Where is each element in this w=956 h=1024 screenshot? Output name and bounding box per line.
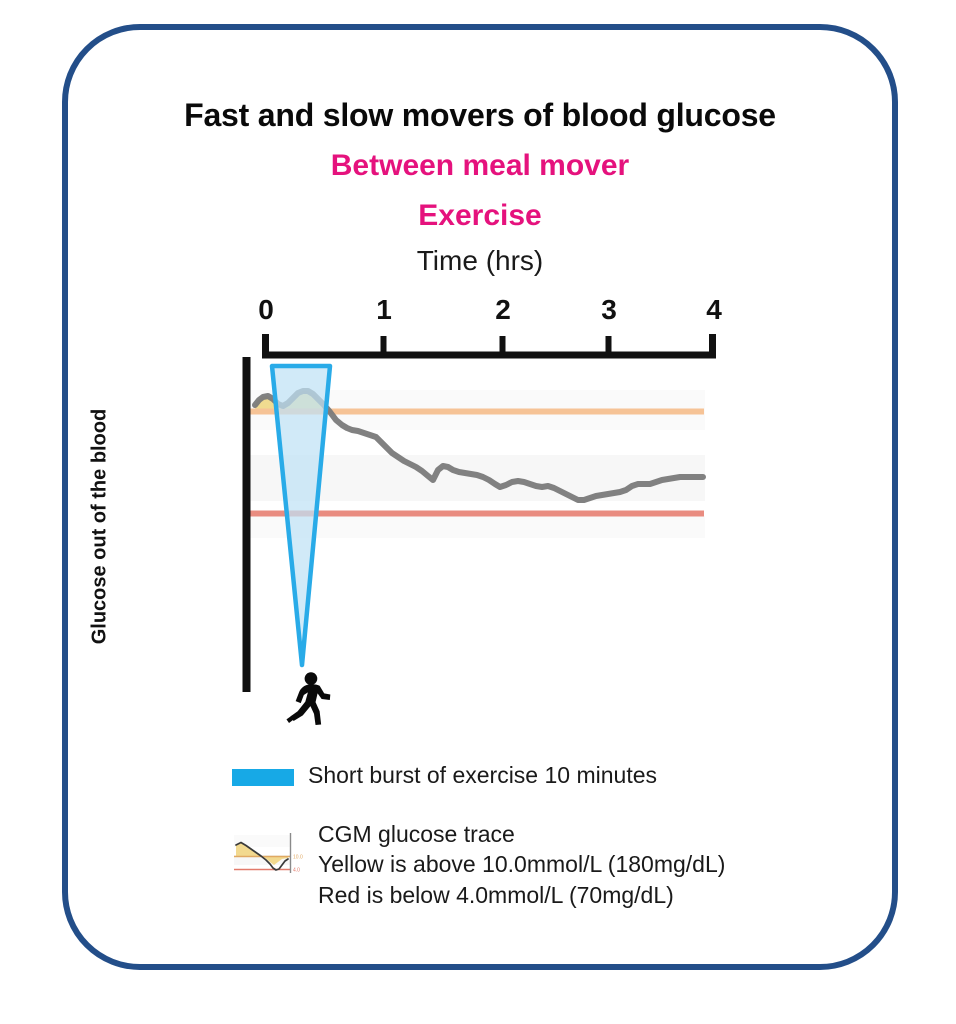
legend-item-cgm: 10.0 4.0 CGM glucose trace Yellow is abo… — [232, 819, 832, 911]
legend-label-exercise: Short burst of exercise 10 minutes — [308, 760, 657, 791]
subtitle-between-meal-mover: Between meal mover — [62, 150, 898, 182]
legend-cgm-line1: CGM glucose trace — [318, 819, 725, 850]
legend-cgm-line3: Red is below 4.0mmol/L (70mg/dL) — [318, 880, 725, 911]
x-axis-title: Time (hrs) — [62, 246, 898, 276]
cgm-thumb-low-value: 4.0 — [293, 867, 300, 873]
x-tick-label-2: 2 — [483, 294, 523, 326]
y-axis-label: Glucose out of the blood — [89, 367, 112, 687]
legend: Short burst of exercise 10 minutes 10.0 … — [232, 760, 832, 910]
cgm-thumbnail-icon: 10.0 4.0 — [232, 829, 304, 877]
legend-cgm-line2: Yellow is above 10.0mmol/L (180mg/dL) — [318, 849, 725, 880]
x-tick-label-3: 3 — [589, 294, 629, 326]
slide-canvas: Fast and slow movers of blood glucose Be… — [0, 0, 956, 1024]
page-title: Fast and slow movers of blood glucose — [62, 99, 898, 133]
x-tick-label-1: 1 — [364, 294, 404, 326]
legend-label-cgm: CGM glucose trace Yellow is above 10.0mm… — [318, 819, 725, 911]
exercise-swatch-icon — [232, 769, 294, 786]
legend-item-exercise: Short burst of exercise 10 minutes — [232, 760, 832, 791]
x-tick-label-4: 4 — [694, 294, 734, 326]
cgm-thumb-high-value: 10.0 — [293, 854, 303, 860]
x-tick-label-0: 0 — [246, 294, 286, 326]
subtitle-exercise: Exercise — [62, 200, 898, 232]
